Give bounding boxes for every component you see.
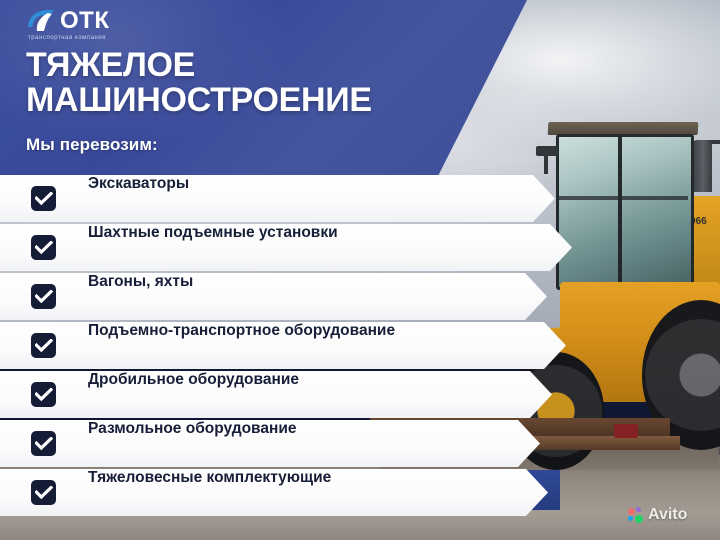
list-item-label: Шахтные подъемные установки (88, 224, 338, 271)
page-title: ТЯЖЕЛОЕ МАШИНОСТРОЕНИЕ (26, 48, 496, 118)
list-item-ribbon: Дробильное оборудование (0, 371, 552, 418)
list-item-label: Дробильное оборудование (88, 371, 299, 418)
check-icon[interactable] (31, 186, 56, 211)
headline-line-2: МАШИНОСТРОЕНИЕ (26, 83, 496, 118)
check-icon[interactable] (31, 480, 56, 505)
list-item-label: Вагоны, яхты (88, 273, 193, 320)
avito-label: Avito (648, 506, 687, 524)
check-icon[interactable] (31, 333, 56, 358)
list-item-ribbon: Размольное оборудование (0, 420, 540, 467)
list-item-ribbon: Шахтные подъемные установки (0, 224, 572, 271)
list-item-label: Размольное оборудование (88, 420, 297, 467)
avito-watermark: Avito (628, 506, 687, 524)
list-item-label: Тяжеловесные комплектующие (88, 469, 331, 516)
poster-canvas: CAT 966 ОТК транспортная компания (0, 0, 720, 540)
list-item-ribbon: Подъемно-транспортное оборудование (0, 322, 566, 369)
avito-dots-icon (628, 507, 644, 523)
list-item-ribbon: Экскаваторы (0, 175, 555, 222)
list-item[interactable]: Вагоны, яхты (0, 273, 720, 320)
list-item-ribbon: Вагоны, яхты (0, 273, 547, 320)
check-icon[interactable] (31, 431, 56, 456)
services-list: ЭкскаваторыШахтные подъемные установкиВа… (0, 175, 720, 518)
logo-tagline: транспортная компания (28, 35, 106, 41)
subheading: Мы перевозим: (26, 135, 158, 155)
list-item[interactable]: Размольное оборудование (0, 420, 720, 467)
list-item[interactable]: Тяжеловесные комплектующие (0, 469, 720, 516)
list-item-ribbon: Тяжеловесные комплектующие (0, 469, 548, 516)
check-icon[interactable] (31, 284, 56, 309)
list-item[interactable]: Дробильное оборудование (0, 371, 720, 418)
logo-wordmark: ОТК (60, 8, 109, 34)
leaf-swoosh-icon (26, 8, 60, 34)
list-item-label: Экскаваторы (88, 175, 189, 222)
list-item[interactable]: Экскаваторы (0, 175, 720, 222)
check-icon[interactable] (31, 382, 56, 407)
list-item[interactable]: Подъемно-транспортное оборудование (0, 322, 720, 369)
headline-line-1: ТЯЖЕЛОЕ (26, 46, 195, 84)
list-item-label: Подъемно-транспортное оборудование (88, 322, 395, 369)
check-icon[interactable] (31, 235, 56, 260)
list-item[interactable]: Шахтные подъемные установки (0, 224, 720, 271)
brand-logo[interactable]: ОТК транспортная компания (26, 8, 146, 44)
